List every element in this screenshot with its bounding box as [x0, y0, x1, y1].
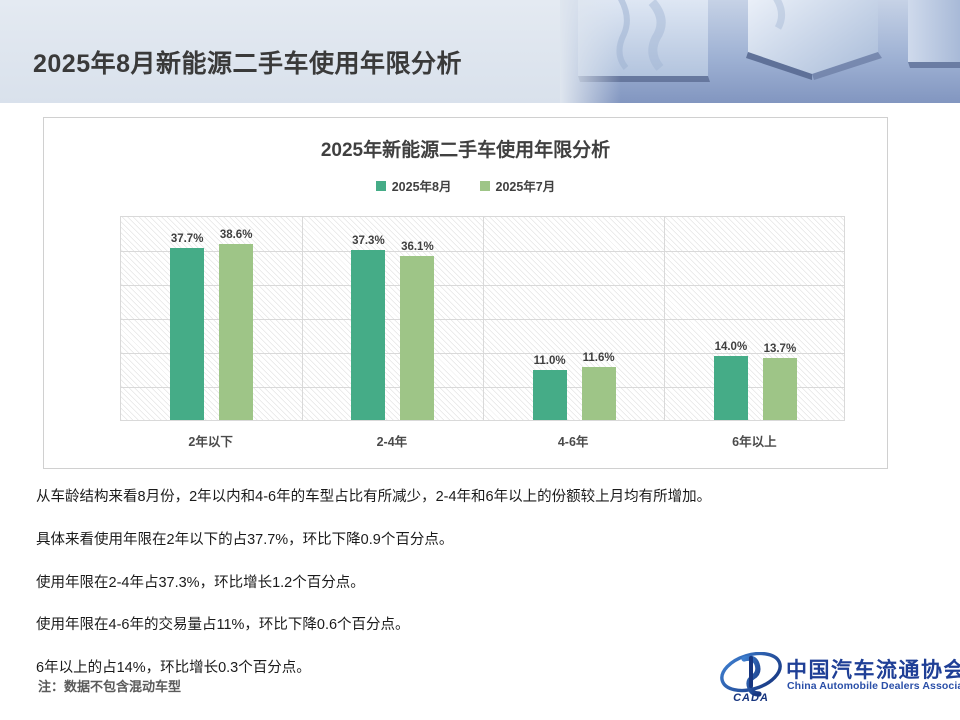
body-paragraph: 使用年限在4-6年的交易量占11%，环比下降0.6个百分点。: [36, 615, 926, 637]
bar: [763, 358, 797, 420]
legend-item-series-1[interactable]: 2025年8月: [376, 176, 452, 195]
chart-legend: 2025年8月 2025年7月: [44, 176, 887, 195]
legend-swatch-icon: [480, 181, 490, 191]
category-label: 6年以上: [694, 431, 814, 450]
bar-value-label: 38.6%: [207, 229, 265, 241]
legend-label: 2025年8月: [392, 176, 452, 195]
bar: [714, 356, 748, 420]
legend-item-series-2[interactable]: 2025年7月: [480, 176, 556, 195]
page-title: 2025年8月新能源二手车使用年限分析: [33, 44, 462, 80]
footnote: 注：数据不包含混动车型: [38, 676, 181, 695]
category-label: 2年以下: [151, 431, 271, 450]
bar: [582, 367, 616, 420]
svg-text:CADA: CADA: [733, 692, 769, 704]
bar: [170, 248, 204, 420]
cada-emblem-icon: CADA: [718, 652, 784, 704]
slide: 2025年8月新能源二手车使用年限分析 2025年新能源二手车使用年限分析 20…: [0, 0, 960, 720]
bars-layer: 37.7%38.6%37.3%36.1%11.0%11.6%14.0%13.7%: [121, 217, 844, 420]
category-label: 2-4年: [332, 431, 452, 450]
body-paragraph: 使用年限在2-4年占37.3%，环比增长1.2个百分点。: [36, 573, 926, 595]
chart-plot-area: 37.7%38.6%37.3%36.1%11.0%11.6%14.0%13.7%: [120, 216, 845, 421]
logo-name-en: China Automobile Dealers Association: [787, 680, 960, 692]
cada-logo: CADA 中国汽车流通协会 China Automobile Dealers A…: [718, 652, 950, 710]
blue-cubes-world-map-icon: [560, 0, 960, 103]
body-paragraph: 具体来看使用年限在2年以下的占37.7%，环比下降0.9个百分点。: [36, 530, 926, 552]
bar-value-label: 11.6%: [570, 352, 628, 364]
chart-title: 2025年新能源二手车使用年限分析: [44, 135, 887, 162]
bar-value-label: 36.1%: [388, 241, 446, 253]
bar: [400, 256, 434, 420]
bar: [533, 370, 567, 420]
legend-swatch-icon: [376, 181, 386, 191]
category-label: 4-6年: [513, 431, 633, 450]
bar: [219, 244, 253, 420]
bar: [351, 250, 385, 420]
slide-header: 2025年8月新能源二手车使用年限分析: [0, 0, 960, 103]
legend-label: 2025年7月: [496, 176, 556, 195]
chart-card: 2025年新能源二手车使用年限分析 2025年8月 2025年7月 37.7%3…: [43, 117, 888, 469]
body-paragraph: 从车龄结构来看8月份，2年以内和4-6年的车型占比有所减少，2-4年和6年以上的…: [36, 487, 926, 509]
bar-value-label: 13.7%: [751, 343, 809, 355]
